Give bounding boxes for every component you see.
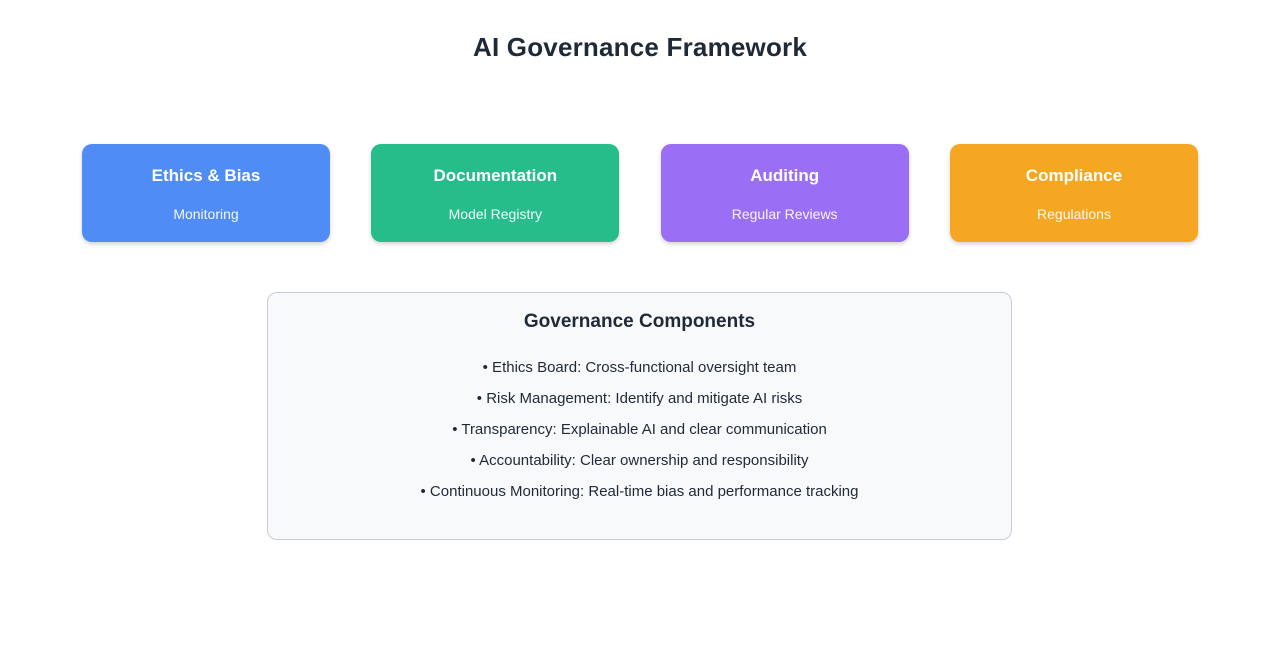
list-item: • Risk Management: Identify and mitigate… [268, 383, 1011, 414]
pillar-subtitle: Model Registry [449, 204, 542, 224]
governance-components-panel: Governance Components • Ethics Board: Cr… [267, 292, 1012, 540]
page-title: AI Governance Framework [0, 31, 1280, 63]
panel-heading: Governance Components [268, 310, 1011, 334]
pillar-subtitle: Regular Reviews [732, 204, 838, 224]
pillar-title: Compliance [1026, 165, 1122, 187]
pillar-title: Auditing [750, 165, 819, 187]
pillar-card-documentation[interactable]: Documentation Model Registry [371, 144, 619, 242]
list-item: • Continuous Monitoring: Real-time bias … [268, 476, 1011, 507]
pillar-title: Documentation [433, 165, 557, 187]
list-item: • Accountability: Clear ownership and re… [268, 445, 1011, 476]
list-item: • Transparency: Explainable AI and clear… [268, 414, 1011, 445]
pillar-title: Ethics & Bias [152, 165, 261, 187]
pillar-card-auditing[interactable]: Auditing Regular Reviews [661, 144, 909, 242]
pillar-card-compliance[interactable]: Compliance Regulations [950, 144, 1198, 242]
pillar-subtitle: Monitoring [173, 204, 238, 224]
pillar-cards-row: Ethics & Bias Monitoring Documentation M… [82, 144, 1198, 242]
list-item: • Ethics Board: Cross-functional oversig… [268, 352, 1011, 383]
pillar-card-ethics-and-bias[interactable]: Ethics & Bias Monitoring [82, 144, 330, 242]
components-list: • Ethics Board: Cross-functional oversig… [268, 352, 1011, 507]
pillar-subtitle: Regulations [1037, 204, 1111, 224]
